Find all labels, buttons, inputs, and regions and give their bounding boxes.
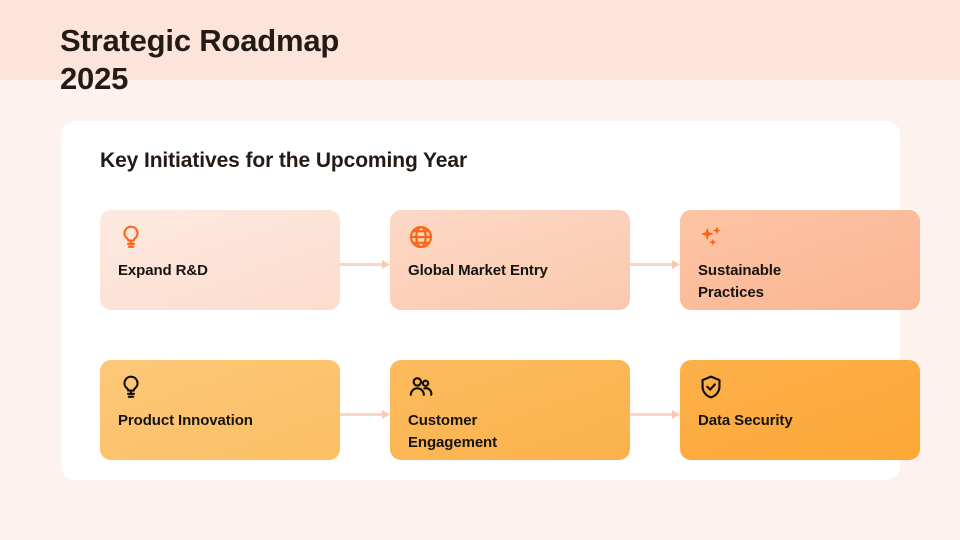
initiative-card-sustainable-practices[interactable]: Sustainable Practices	[680, 210, 920, 310]
section-heading: Key Initiatives for the Upcoming Year	[100, 149, 467, 173]
shield-check-icon	[698, 374, 724, 400]
globe-icon	[408, 224, 434, 250]
card-label: Expand R&D	[118, 260, 322, 282]
connector-arrow	[340, 256, 390, 265]
initiative-card-customer-engagement[interactable]: Customer Engagement	[390, 360, 630, 460]
lightbulb-icon	[118, 374, 144, 400]
card-label: Product Innovation	[118, 410, 322, 432]
connector-arrow	[630, 406, 680, 415]
lightbulb-icon	[118, 224, 144, 250]
card-label: Customer Engagement	[408, 410, 612, 454]
initiative-card-product-innovation[interactable]: Product Innovation	[100, 360, 340, 460]
card-label: Sustainable Practices	[698, 260, 902, 304]
card-label: Global Market Entry	[408, 260, 612, 282]
initiative-card-data-security[interactable]: Data Security	[680, 360, 920, 460]
people-icon	[408, 374, 434, 400]
connector-arrow	[630, 256, 680, 265]
card-label: Data Security	[698, 410, 902, 432]
connector-arrow	[340, 406, 390, 415]
page-title: Strategic Roadmap 2025	[60, 22, 660, 98]
sparkles-icon	[698, 224, 724, 250]
initiative-card-expand-rd[interactable]: Expand R&D	[100, 210, 340, 310]
initiative-card-global-market-entry[interactable]: Global Market Entry	[390, 210, 630, 310]
